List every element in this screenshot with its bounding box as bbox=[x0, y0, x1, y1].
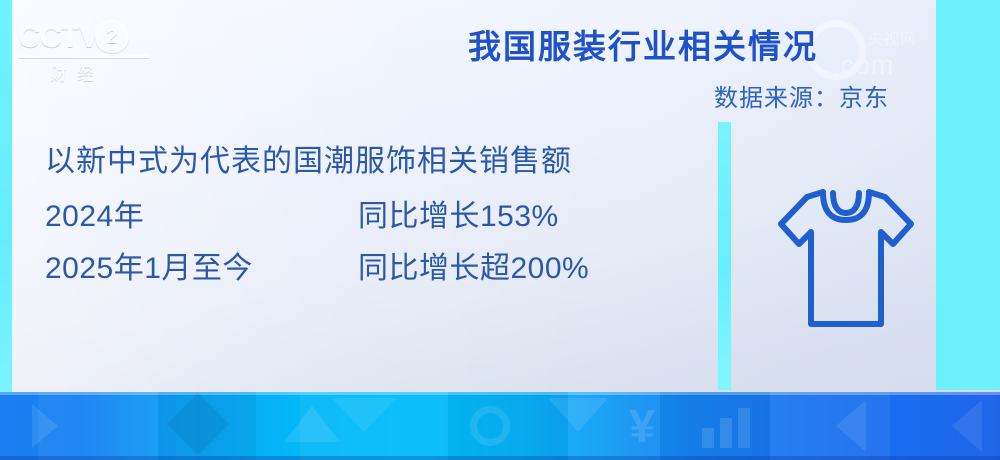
vertical-divider-bar bbox=[718, 122, 731, 390]
tshirt-icon bbox=[773, 182, 919, 334]
chevron-motif bbox=[836, 400, 866, 452]
stat-metric: 同比增长153% bbox=[358, 191, 559, 235]
stat-period: 2024年 bbox=[45, 191, 358, 235]
stat-period: 2025年1月至今 bbox=[45, 243, 358, 287]
bar-bottom-shadow bbox=[0, 456, 1000, 460]
left-accent-bar bbox=[0, 0, 12, 392]
stat-row: 2024年 同比增长153% bbox=[45, 191, 589, 235]
channel-name-label: 财经 bbox=[50, 60, 178, 85]
chevron-motif bbox=[332, 398, 396, 432]
stat-metric: 同比增长超200% bbox=[358, 243, 589, 287]
lead-statement: 以新中式为代表的国潮服饰相关销售额 bbox=[45, 136, 589, 180]
bar-tile bbox=[770, 392, 890, 460]
triangle-motif bbox=[32, 404, 58, 448]
stat-row: 2025年1月至今 同比增长超200% bbox=[45, 243, 589, 287]
logo-underline bbox=[18, 54, 150, 58]
currency-yuan-icon: ¥ bbox=[612, 392, 672, 460]
cctv-wordmark: CCTV bbox=[18, 21, 98, 52]
watermark-cn-label: 央视网 bbox=[868, 28, 916, 49]
page-title: 我国服装行业相关情况 bbox=[468, 20, 818, 68]
statistics-block: 以新中式为代表的国潮服饰相关销售额 2024年 同比增长153% 2025年1月… bbox=[45, 136, 589, 295]
chevron-motif bbox=[952, 400, 982, 452]
data-source-label: 数据来源：京东 bbox=[714, 78, 889, 113]
watermark-com-label: .com bbox=[832, 50, 895, 81]
channel-number-badge: 2 bbox=[95, 20, 129, 53]
chevron-motif bbox=[548, 398, 608, 432]
bar-chart-icon bbox=[700, 406, 756, 453]
broadcast-graphic-screen: CCTV 2 财经 央视网 .com 我国服装行业相关情况 数据来源：京东 以新… bbox=[0, 0, 1000, 460]
right-accent-panel bbox=[936, 0, 1000, 390]
cctv2-logo: CCTV 2 财经 bbox=[18, 20, 178, 82]
circle-motif bbox=[470, 406, 510, 446]
bottom-decoration-bar: ¥ bbox=[0, 392, 1000, 460]
